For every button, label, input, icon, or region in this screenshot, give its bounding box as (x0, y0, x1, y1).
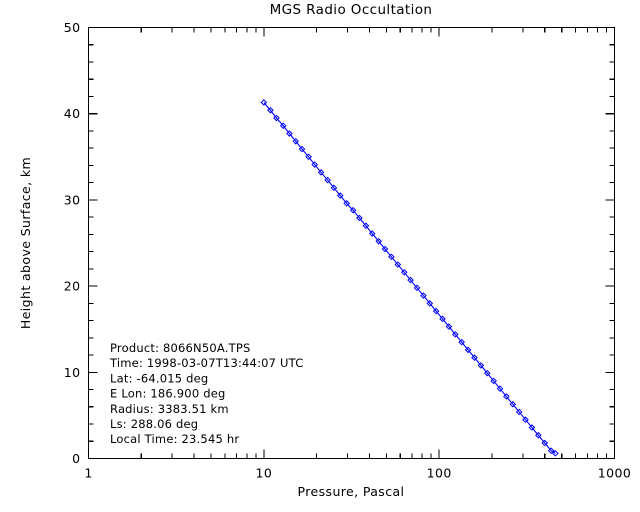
x-axis-title: Pressure, Pascal (298, 484, 405, 499)
data-series-layer (261, 100, 558, 456)
y-tick-label: 40 (64, 106, 81, 121)
x-tick-label: 10 (255, 466, 272, 481)
y-tick-label: 30 (64, 192, 81, 207)
plot-canvas: MGS Radio Occultation 1101001000 0102030… (0, 0, 640, 512)
y-tick-labels: 01020304050 (64, 20, 81, 466)
x-tick-label: 1000 (598, 466, 631, 481)
y-tick-label: 20 (64, 279, 81, 294)
annotation-line: Local Time: 23.545 hr (110, 432, 239, 446)
annotation-line: Ls: 288.06 deg (110, 417, 198, 431)
y-tick-label: 0 (72, 451, 80, 466)
y-tick-label: 10 (64, 365, 81, 380)
annotation-line: Lat: -64.015 deg (110, 371, 208, 385)
annotation-block: Product: 8066N50A.TPSTime: 1998-03-07T13… (109, 341, 303, 446)
annotation-line: Radius: 3383.51 km (110, 402, 229, 416)
chart-title: MGS Radio Occultation (270, 2, 433, 18)
y-tick-label: 50 (64, 20, 81, 35)
figure-root: MGS Radio Occultation 1101001000 0102030… (0, 0, 640, 512)
x-tick-label: 100 (427, 466, 452, 481)
annotation-line: E Lon: 186.900 deg (110, 387, 225, 401)
data-series (261, 100, 558, 456)
annotation-line: Product: 8066N50A.TPS (110, 341, 250, 355)
x-tick-label: 1 (84, 466, 92, 481)
annotation-line: Time: 1998-03-07T13:44:07 UTC (109, 356, 303, 370)
y-axis-title: Height above Surface, km (18, 157, 33, 329)
x-tick-labels: 1101001000 (84, 466, 631, 481)
